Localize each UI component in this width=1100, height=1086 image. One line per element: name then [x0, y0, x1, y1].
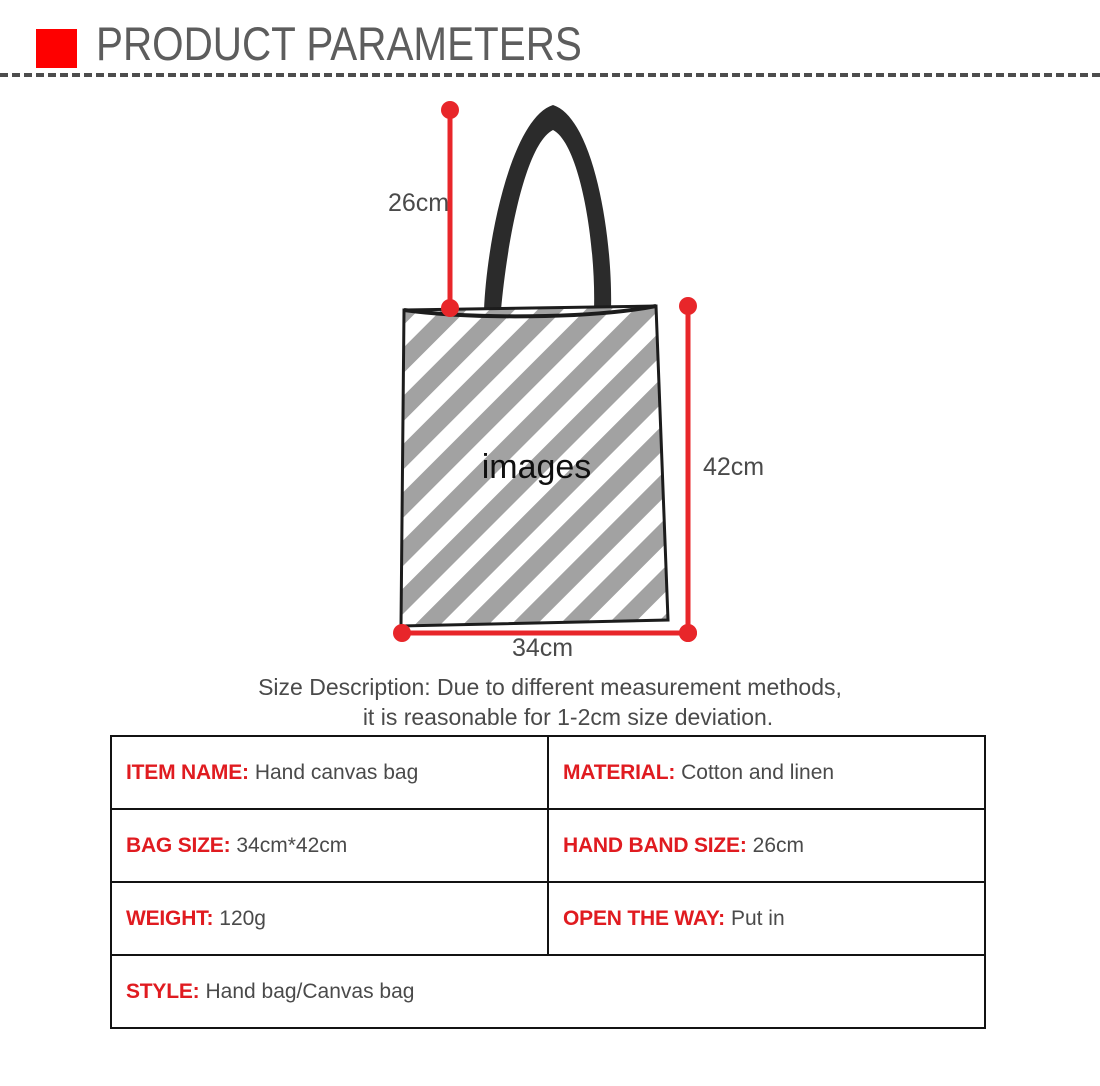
table-row: WEIGHT: 120g OPEN THE WAY: Put in — [111, 882, 985, 955]
table-row: STYLE: Hand bag/Canvas bag — [111, 955, 985, 1028]
spec-value: 26cm — [747, 834, 804, 858]
table-cell-open-the-way: OPEN THE WAY: Put in — [548, 882, 985, 955]
table-cell-material: MATERIAL: Cotton and linen — [548, 736, 985, 809]
table-row: BAG SIZE: 34cm*42cm HAND BAND SIZE: 26cm — [111, 809, 985, 882]
page-title: PRODUCT PARAMETERS — [96, 16, 582, 72]
spec-label: WEIGHT: — [126, 907, 213, 931]
dimension-line-bag-height — [679, 297, 697, 642]
size-description-line-1: Size Description: Due to different measu… — [0, 672, 1100, 702]
spec-value: Hand bag/Canvas bag — [199, 980, 414, 1004]
spec-value: Cotton and linen — [675, 761, 834, 785]
spec-label: BAG SIZE: — [126, 834, 230, 858]
header-dashed-divider — [0, 73, 1100, 77]
spec-label: ITEM NAME: — [126, 761, 249, 785]
table-cell-weight: WEIGHT: 120g — [111, 882, 548, 955]
table-cell-style: STYLE: Hand bag/Canvas bag — [111, 955, 985, 1028]
size-description: Size Description: Due to different measu… — [0, 672, 1100, 732]
spec-label: STYLE: — [126, 980, 199, 1004]
dimension-label-handle-drop: 26cm — [388, 188, 449, 218]
spec-value: Hand canvas bag — [249, 761, 418, 785]
spec-value: Put in — [725, 907, 785, 931]
product-illustration: 26cm 42cm 34cm images — [0, 78, 1100, 728]
bag-diagram — [0, 78, 1100, 728]
dimension-label-bag-height: 42cm — [703, 452, 764, 482]
red-square-marker — [36, 29, 77, 68]
dimension-label-bag-width: 34cm — [512, 633, 573, 663]
spec-value: 120g — [213, 907, 266, 931]
bag-image-placeholder: images — [404, 448, 669, 487]
spec-label: MATERIAL: — [563, 761, 675, 785]
spec-label: HAND BAND SIZE: — [563, 834, 747, 858]
spec-value: 34cm*42cm — [230, 834, 347, 858]
table-cell-hand-band-size: HAND BAND SIZE: 26cm — [548, 809, 985, 882]
bag-handle-icon — [484, 105, 611, 310]
table-cell-item-name: ITEM NAME: Hand canvas bag — [111, 736, 548, 809]
specification-table: ITEM NAME: Hand canvas bag MATERIAL: Cot… — [110, 735, 986, 1029]
table-row: ITEM NAME: Hand canvas bag MATERIAL: Cot… — [111, 736, 985, 809]
table-cell-bag-size: BAG SIZE: 34cm*42cm — [111, 809, 548, 882]
size-description-line-2: it is reasonable for 1-2cm size deviatio… — [0, 702, 1100, 732]
page-header: PRODUCT PARAMETERS — [0, 0, 1100, 78]
spec-label: OPEN THE WAY: — [563, 907, 725, 931]
